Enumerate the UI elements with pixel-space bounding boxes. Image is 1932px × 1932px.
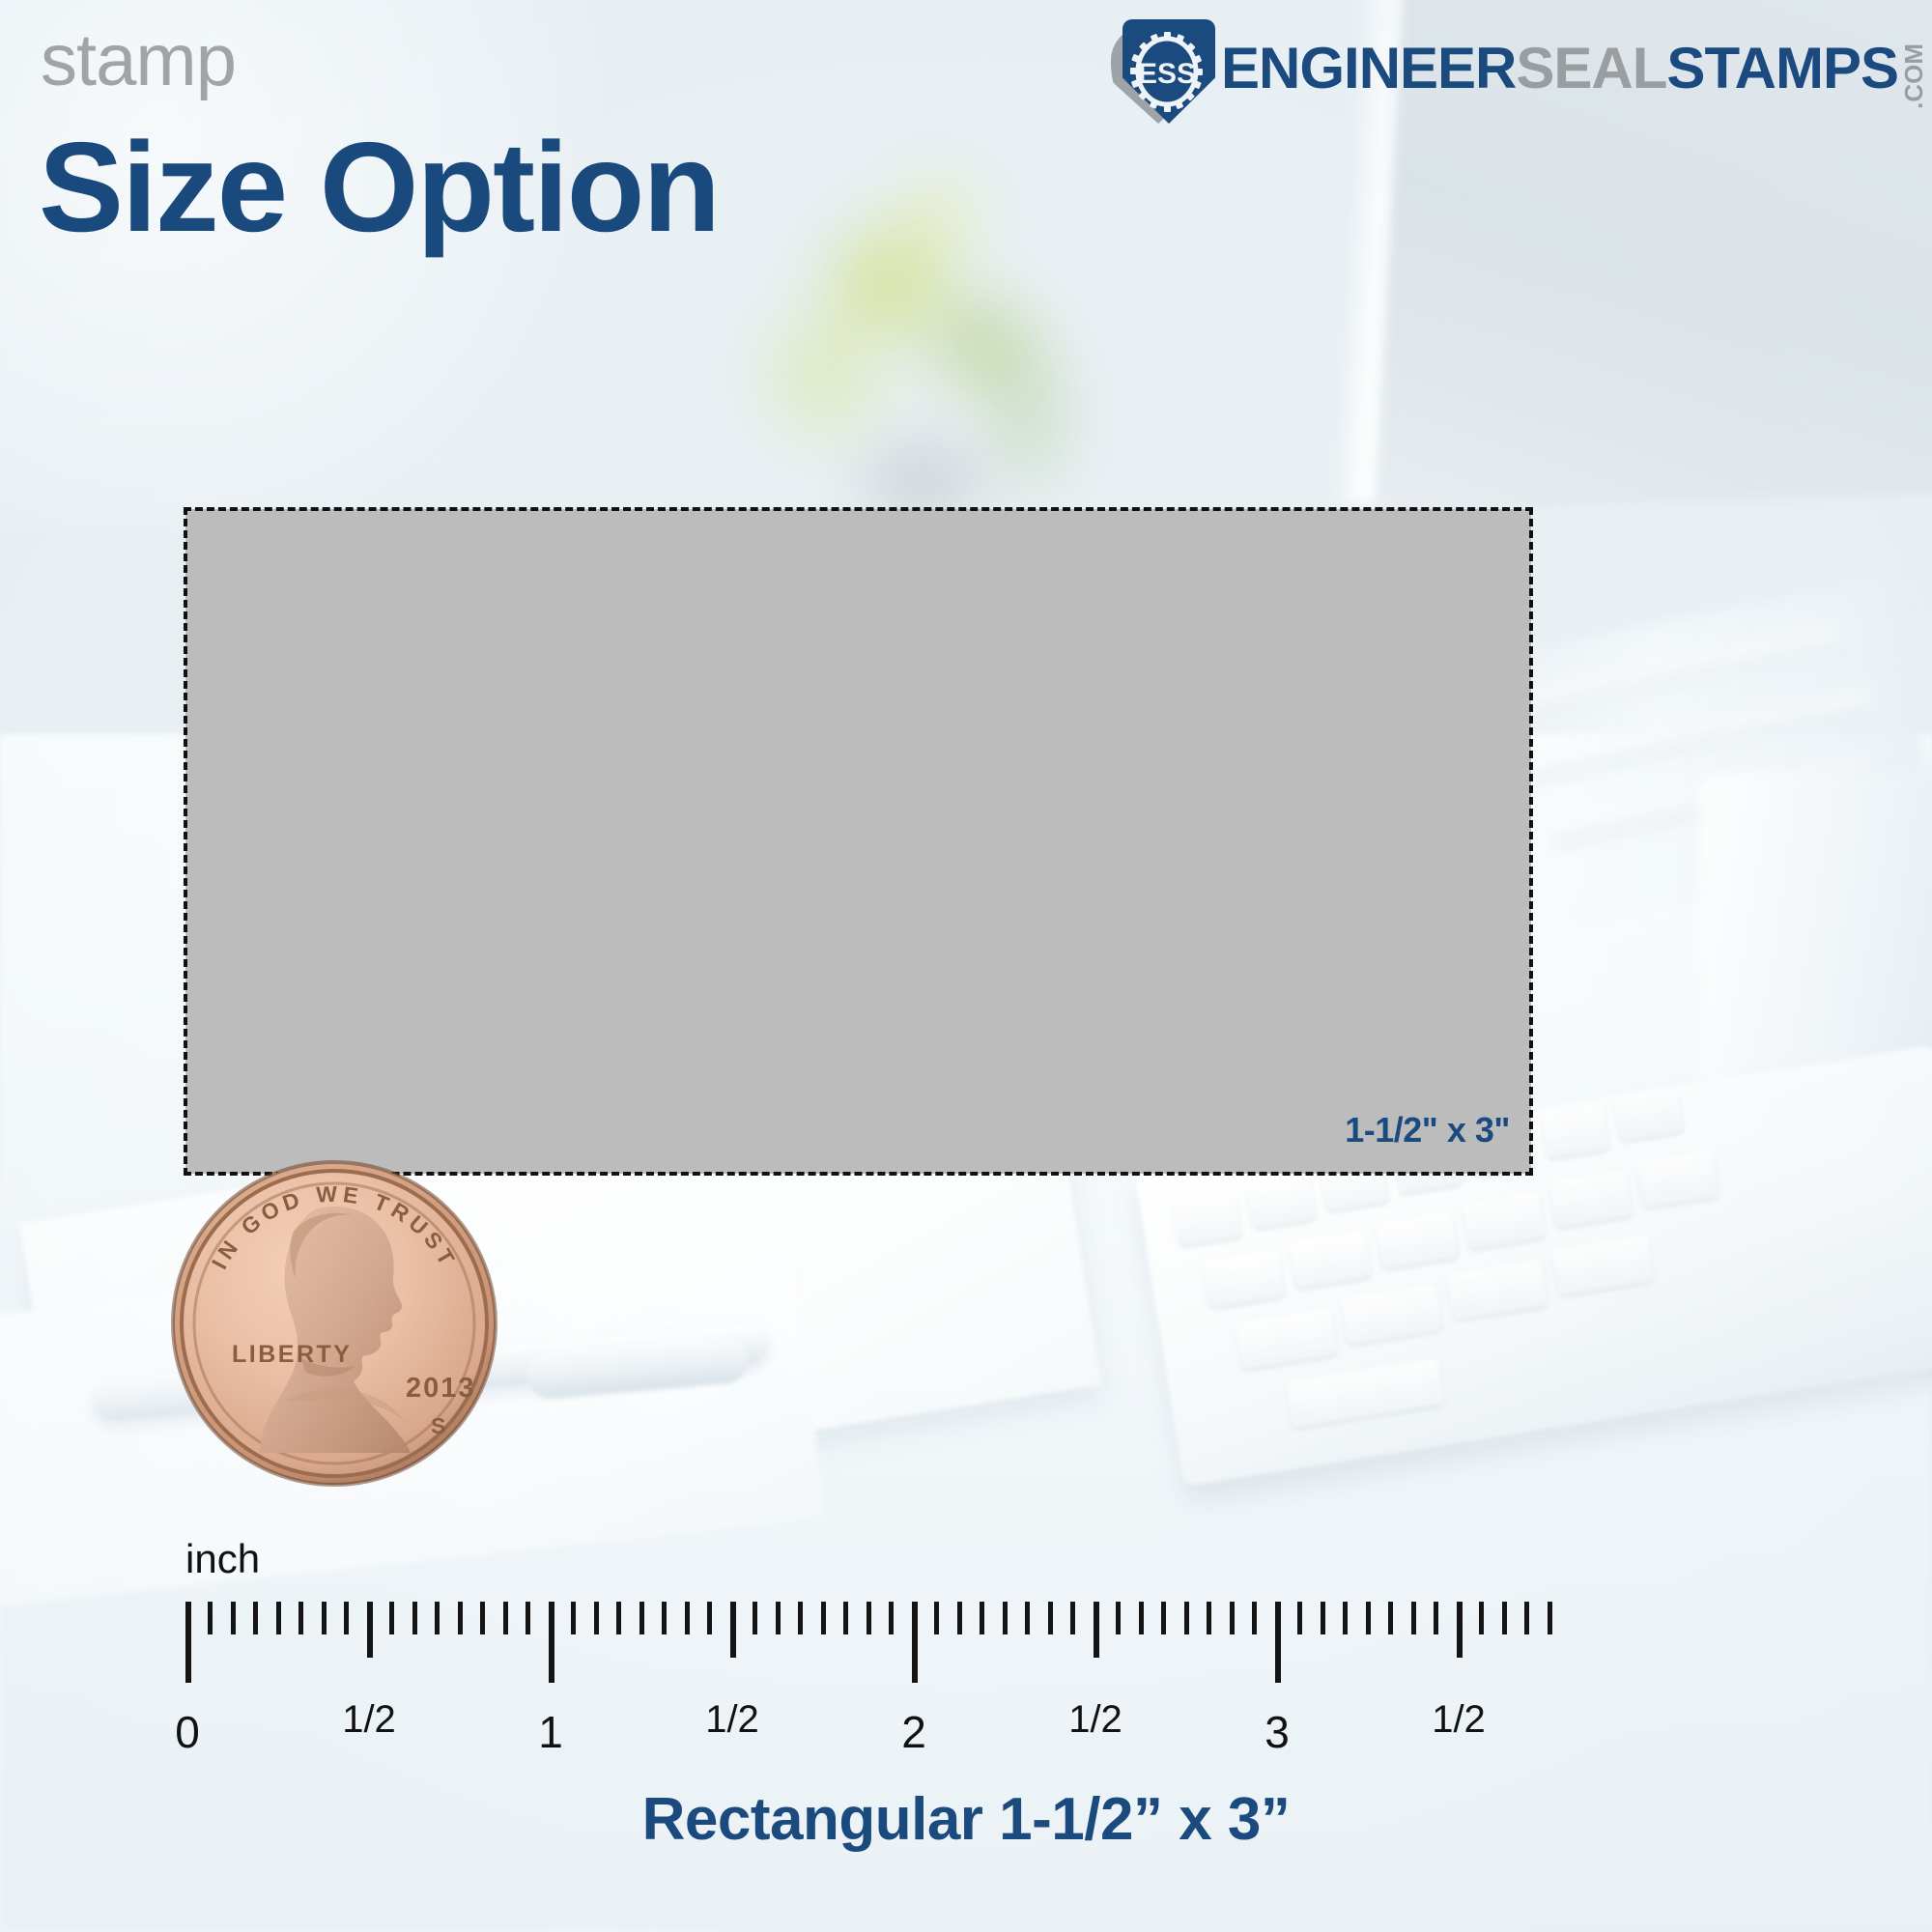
ruler-tick (912, 1602, 918, 1683)
ruler-tick (1366, 1602, 1371, 1634)
ruler-tick (276, 1602, 281, 1634)
ruler-tick (1434, 1602, 1438, 1634)
ruler-tick (821, 1602, 826, 1634)
ruler-number: 1/2 (705, 1698, 759, 1742)
ruler-number: 1/2 (342, 1698, 396, 1742)
ruler-number: 0 (175, 1706, 200, 1758)
ruler-tick (639, 1602, 644, 1634)
ruler-tick (298, 1602, 303, 1634)
ruler-tick (185, 1602, 191, 1683)
ruler-tick (1048, 1602, 1053, 1634)
ruler-tick (1548, 1602, 1552, 1634)
ruler-tick (208, 1602, 213, 1634)
ruler-tick (231, 1602, 236, 1634)
ruler-number: 1/2 (1068, 1698, 1122, 1742)
logo-word-stamps: STAMPS (1666, 40, 1898, 98)
ruler-tick (1457, 1602, 1463, 1658)
ruler-tick (1343, 1602, 1348, 1634)
ruler-tick (389, 1602, 394, 1634)
ruler-tick (1184, 1602, 1189, 1634)
ruler-number: 1/2 (1432, 1698, 1486, 1742)
ess-badge-text: ESS (1138, 58, 1196, 90)
ruler-tick (616, 1602, 621, 1634)
ruler-tick (1116, 1602, 1121, 1634)
ruler-tick (867, 1602, 871, 1634)
ruler-tick (571, 1602, 576, 1634)
stamp-preview-area[interactable]: 1-1/2" x 3" (185, 509, 1531, 1174)
ruler-tick (322, 1602, 327, 1634)
logo-wordmark: ENGINEERSEALSTAMPS.COM (1221, 40, 1926, 105)
ruler-tick (1524, 1602, 1529, 1634)
coin-mint-mark: S (431, 1413, 445, 1438)
ruler-tick (1230, 1602, 1235, 1634)
ruler-tick (662, 1602, 667, 1634)
size-option-graphic: stamp Size Option (0, 0, 1932, 1932)
ruler-tick (1070, 1602, 1075, 1634)
ruler-tick (526, 1602, 530, 1634)
ruler-tick (1502, 1602, 1507, 1634)
ruler-tick (1252, 1602, 1257, 1634)
ruler-tick (1207, 1602, 1211, 1634)
ruler-tick (707, 1602, 712, 1634)
ruler-tick (1003, 1602, 1008, 1634)
ruler-tick (776, 1602, 781, 1634)
penny-reference-coin: IN GOD WE TRUST LIBERTY 2013 S (170, 1159, 498, 1488)
ruler-tick (1411, 1602, 1416, 1634)
ruler-tick (503, 1602, 508, 1634)
brand-logo[interactable]: ESS ENGINEERSEALSTAMPS.COM (1111, 19, 1918, 126)
ruler-tick (1297, 1602, 1302, 1634)
size-caption: Rectangular 1-1/2” x 3” (0, 1785, 1932, 1854)
ruler-tick (1388, 1602, 1393, 1634)
ruler-tick (253, 1602, 258, 1634)
eyebrow-label: stamp (41, 24, 236, 98)
ruler-tick (730, 1602, 736, 1658)
ruler-tick (1094, 1602, 1099, 1658)
ruler-tick (412, 1602, 417, 1634)
ruler-tick (594, 1602, 599, 1634)
ruler-number: 3 (1264, 1706, 1290, 1758)
ruler-tick (889, 1602, 894, 1634)
ruler-tick (934, 1602, 939, 1634)
logo-word-dotcom: .COM (1901, 43, 1926, 109)
ruler-tick (843, 1602, 848, 1634)
ruler-unit-label: inch (185, 1536, 260, 1582)
ruler-tick (458, 1602, 463, 1634)
coin-year: 2013 (406, 1373, 476, 1404)
ruler-tick (980, 1602, 984, 1634)
ruler-number: 1 (538, 1706, 563, 1758)
logo-word-seal: SEAL (1516, 40, 1666, 98)
stamp-size-label: 1-1/2" x 3" (1345, 1110, 1510, 1151)
page-title: Size Option (39, 124, 719, 251)
ruler-tick (480, 1602, 485, 1634)
inch-ruler: inch 01/211/221/231/2 (0, 1536, 1932, 1787)
ruler-tick (957, 1602, 962, 1634)
ruler-tick (1025, 1602, 1030, 1634)
ruler-tick (798, 1602, 803, 1634)
logo-word-engineer: ENGINEER (1221, 40, 1516, 98)
ruler-tick (685, 1602, 690, 1634)
ess-shield-icon: ESS (1111, 19, 1215, 126)
coin-liberty: LIBERTY (232, 1341, 352, 1368)
ruler-tick (344, 1602, 349, 1634)
ruler-tick (367, 1602, 373, 1658)
ruler-tick (753, 1602, 757, 1634)
ruler-tick (1139, 1602, 1144, 1634)
ruler-tick (1161, 1602, 1166, 1634)
ruler-tick (1275, 1602, 1281, 1683)
ruler-tick (1321, 1602, 1325, 1634)
ruler-tick (549, 1602, 554, 1683)
ruler-tick (435, 1602, 440, 1634)
ruler-tick (1479, 1602, 1484, 1634)
ruler-number: 2 (901, 1706, 926, 1758)
